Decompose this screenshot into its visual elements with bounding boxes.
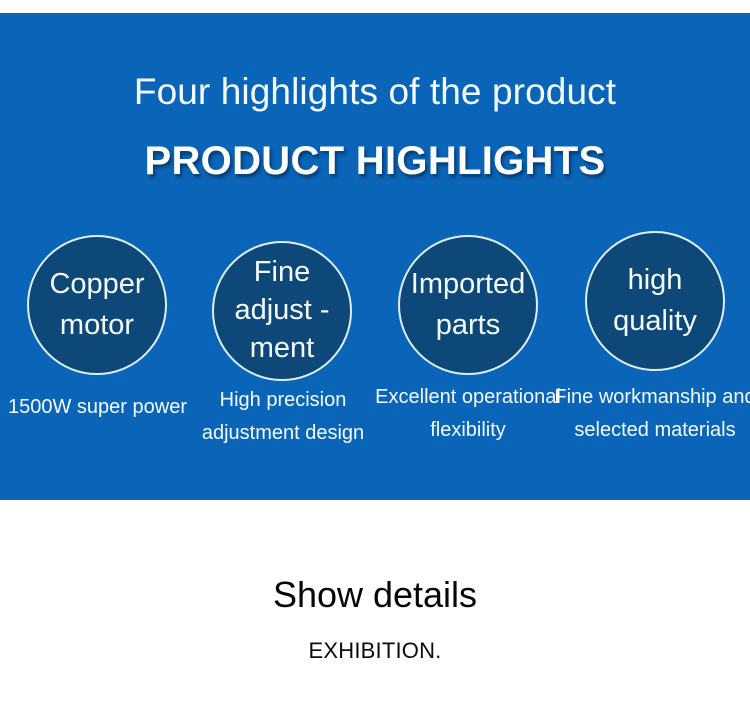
highlight-item-fine-adjustment: Fine adjust -ment High precision adjustm… <box>188 13 378 500</box>
highlight-caption: Fine workmanship and selected materials <box>553 381 750 447</box>
product-highlights-page: Four highlights of the product PRODUCT H… <box>0 0 750 718</box>
highlight-circle-label: Copper motor <box>29 264 165 346</box>
details-title: Show details <box>0 573 750 617</box>
highlight-circle-label: high quality <box>587 260 723 342</box>
highlight-circle-label: Imported parts <box>400 264 536 346</box>
details-subtitle: EXHIBITION. <box>0 637 750 665</box>
highlight-caption: Excellent operational flexibility <box>373 381 563 447</box>
highlight-item-copper-motor: Copper motor 1500W super power <box>0 13 195 500</box>
highlight-circle: Imported parts <box>398 235 538 375</box>
highlight-item-imported-parts: Imported parts Excellent operational fle… <box>373 13 563 500</box>
details-section: Show details EXHIBITION. <box>0 500 750 718</box>
highlight-item-high-quality: high quality Fine workmanship and select… <box>560 13 750 500</box>
highlight-circle-label: Fine adjust -ment <box>214 253 350 367</box>
highlight-caption: High precision adjustment design <box>184 384 382 450</box>
highlight-circle: Fine adjust -ment <box>212 241 352 381</box>
highlights-panel: Four highlights of the product PRODUCT H… <box>0 13 750 500</box>
highlight-circle: high quality <box>585 231 725 371</box>
highlight-circle: Copper motor <box>27 235 167 375</box>
highlight-caption: 1500W super power <box>0 391 195 424</box>
